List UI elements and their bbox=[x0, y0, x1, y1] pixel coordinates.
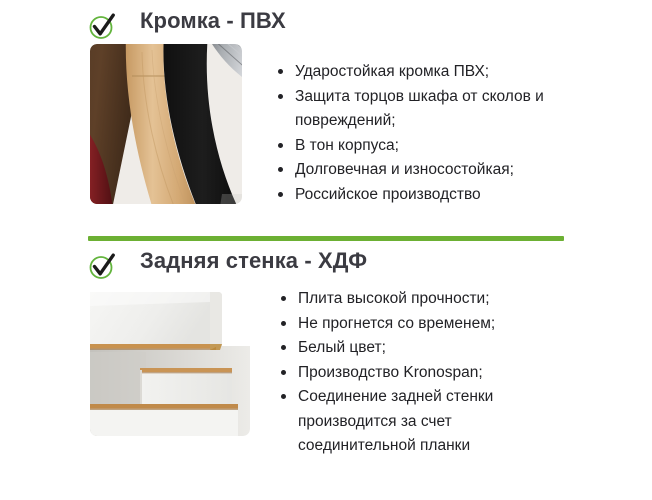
bullet-dot-icon bbox=[281, 345, 286, 350]
section-title: Кромка - ПВХ bbox=[140, 8, 286, 34]
section-back-panel: Задняя стенка - ХДФ bbox=[0, 240, 652, 284]
edge-banding-image bbox=[90, 44, 242, 204]
list-item-text: Соединение задней стенки производится за… bbox=[298, 388, 493, 454]
list-item: Российское производство bbox=[277, 183, 577, 208]
list-item: Соединение задней стенки производится за… bbox=[280, 385, 570, 459]
hdf-back-panel-image bbox=[90, 284, 250, 436]
bullet-dot-icon bbox=[278, 69, 283, 74]
list-item-text: В тон корпуса; bbox=[295, 137, 399, 154]
bullet-dot-icon bbox=[278, 94, 283, 99]
bullet-dot-icon bbox=[278, 192, 283, 197]
bullet-dot-icon bbox=[281, 370, 286, 375]
bullet-dot-icon bbox=[281, 321, 286, 326]
section-title: Задняя стенка - ХДФ bbox=[140, 248, 367, 274]
section-header: Кромка - ПВХ bbox=[88, 0, 652, 44]
list-item: Долговечная и износостойкая; bbox=[277, 158, 577, 183]
list-item: Плита высокой прочности; bbox=[280, 287, 570, 312]
list-item-text: Плита высокой прочности; bbox=[298, 290, 490, 307]
list-item: Защита торцов шкафа от сколов и поврежде… bbox=[277, 85, 577, 134]
list-item: Белый цвет; bbox=[280, 336, 570, 361]
check-circle-icon bbox=[88, 252, 116, 280]
list-item-text: Долговечная и износостойкая; bbox=[295, 161, 514, 178]
list-item-text: Российское производство bbox=[295, 186, 481, 203]
section-header: Задняя стенка - ХДФ bbox=[88, 240, 652, 284]
list-item: Не прогнется со временем; bbox=[280, 312, 570, 337]
back-panel-feature-list: Плита высокой прочности; Не прогнется со… bbox=[280, 287, 570, 459]
list-item-text: Производство Kronospan; bbox=[298, 364, 483, 381]
bullet-dot-icon bbox=[281, 296, 286, 301]
list-item: Ударостойкая кромка ПВХ; bbox=[277, 60, 577, 85]
bullet-dot-icon bbox=[281, 394, 286, 399]
list-item-text: Белый цвет; bbox=[298, 339, 386, 356]
bullet-dot-icon bbox=[278, 167, 283, 172]
check-circle-icon bbox=[88, 12, 116, 40]
feature-list-page: Кромка - ПВХ bbox=[0, 0, 652, 500]
list-item-text: Ударостойкая кромка ПВХ; bbox=[295, 63, 489, 80]
bullet-dot-icon bbox=[278, 143, 283, 148]
section-edge-banding: Кромка - ПВХ bbox=[0, 0, 652, 44]
list-item: Производство Kronospan; bbox=[280, 361, 570, 386]
list-item-text: Не прогнется со временем; bbox=[298, 315, 495, 332]
edge-banding-feature-list: Ударостойкая кромка ПВХ; Защита торцов ш… bbox=[277, 60, 577, 207]
list-item: В тон корпуса; bbox=[277, 134, 577, 159]
list-item-text: Защита торцов шкафа от сколов и поврежде… bbox=[295, 88, 544, 130]
